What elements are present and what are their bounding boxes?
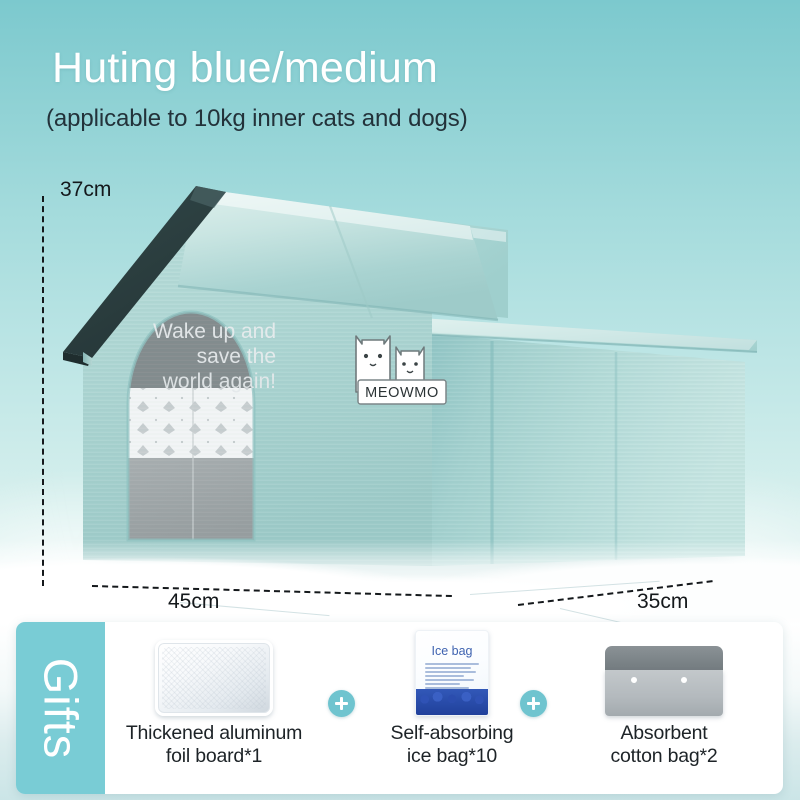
badge-cat-eye-left bbox=[402, 362, 406, 366]
gift-foil-board-caption-line-2: foil board*1 bbox=[126, 745, 302, 768]
cotton-bag-snap-left bbox=[631, 677, 637, 683]
foil-board-icon bbox=[155, 640, 273, 716]
gift-ice-bag-caption-line-2: ice bag*10 bbox=[391, 745, 514, 768]
badge-dog-eye-left bbox=[364, 354, 368, 358]
page-subtitle: (applicable to 10kg inner cats and dogs) bbox=[46, 105, 468, 133]
dimension-height-label: 37cm bbox=[60, 178, 111, 202]
cotton-bag-flap bbox=[605, 646, 723, 672]
badge-cat-eye-right bbox=[414, 362, 418, 366]
gift-ice-bag-caption-line-1: Self-absorbing bbox=[391, 722, 514, 745]
ice-bag-ice-cubes bbox=[416, 689, 488, 715]
gifts-tab-label: Gifts bbox=[33, 657, 88, 759]
gifts-section: Gifts Thickened aluminum foil board*1 Ic… bbox=[16, 622, 783, 794]
ice-bag-label: Ice bag bbox=[416, 644, 488, 658]
gift-cotton-bag-caption-line-2: cotton bag*2 bbox=[610, 745, 717, 768]
cotton-bag-body bbox=[605, 670, 723, 716]
page-title: Huting blue/medium bbox=[52, 44, 438, 93]
dimension-depth-label: 35cm bbox=[637, 590, 688, 614]
gift-cotton-bag-art bbox=[605, 630, 723, 716]
ice-bag-icon: Ice bag bbox=[415, 630, 489, 716]
gift-foil-board-caption: Thickened aluminum foil board*1 bbox=[126, 722, 302, 768]
dimension-width-label: 45cm bbox=[168, 590, 219, 614]
gift-item-ice-bag[interactable]: Ice bag Self-absorbing ice bag*10 bbox=[366, 630, 538, 794]
cotton-bag-icon bbox=[605, 646, 723, 716]
gift-ice-bag-caption: Self-absorbing ice bag*10 bbox=[391, 722, 514, 768]
gift-item-cotton-bag[interactable]: Absorbent cotton bag*2 bbox=[564, 630, 764, 794]
gift-cotton-bag-caption-line-1: Absorbent bbox=[610, 722, 717, 745]
gift-item-foil-board[interactable]: Thickened aluminum foil board*1 bbox=[112, 630, 316, 794]
house-side-wall-texture bbox=[432, 334, 745, 566]
door-slogan-line-2: save the bbox=[197, 345, 276, 368]
plus-icon-2 bbox=[520, 690, 547, 717]
cotton-bag-snap-right bbox=[681, 677, 687, 683]
gift-foil-board-caption-line-1: Thickened aluminum bbox=[126, 722, 302, 745]
gift-foil-board-art bbox=[155, 630, 273, 716]
gift-cotton-bag-caption: Absorbent cotton bag*2 bbox=[610, 722, 717, 768]
badge-dog-eye-right bbox=[378, 354, 382, 358]
gift-ice-bag-art: Ice bag bbox=[415, 630, 489, 716]
plus-icon-1 bbox=[328, 690, 355, 717]
gifts-tab: Gifts bbox=[16, 622, 105, 794]
door-slogan-line-3: world again! bbox=[162, 370, 276, 393]
badge-brand-text: MEOWMO bbox=[365, 385, 439, 401]
dimension-height-line bbox=[42, 196, 44, 586]
door-slogan-line-1: Wake up and bbox=[153, 320, 276, 343]
